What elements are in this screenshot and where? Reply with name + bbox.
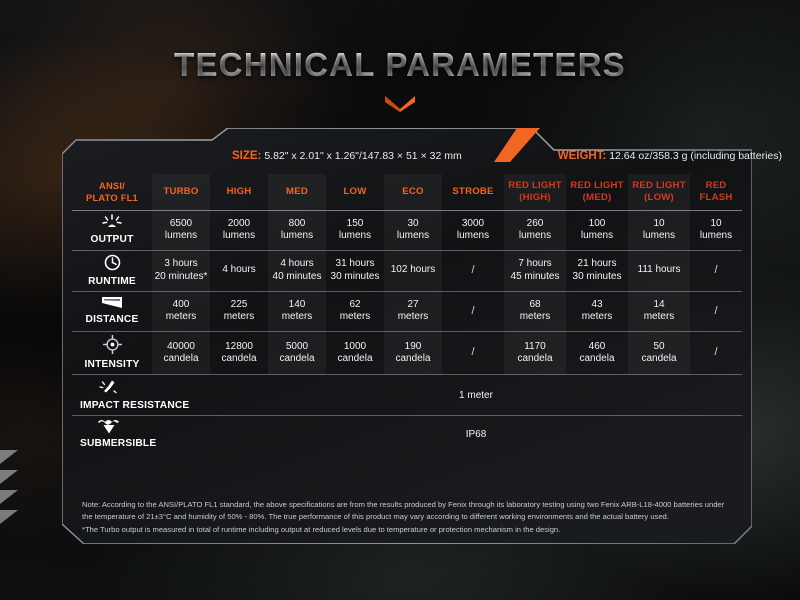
column-header-line: (HIGH) bbox=[504, 192, 566, 204]
impact-drop-icon bbox=[98, 378, 208, 398]
cell-line: 190 bbox=[385, 341, 441, 354]
table-cell: 800lumens bbox=[268, 210, 326, 250]
table-cell: 225meters bbox=[210, 291, 268, 331]
cell-line: lumens bbox=[443, 230, 503, 243]
column-header-line: LOW bbox=[326, 186, 384, 198]
weight-spec: WEIGHT: 12.64 oz/358.3 g (including batt… bbox=[558, 150, 782, 162]
cell-line: 225 bbox=[211, 299, 267, 312]
column-header-line: FLASH bbox=[690, 192, 742, 204]
cell-line: 40 minutes bbox=[269, 271, 325, 284]
cell-line: meters bbox=[211, 311, 267, 324]
footnote-line-2: *The Turbo output is measured in total o… bbox=[82, 524, 734, 536]
cell-line: lumens bbox=[269, 230, 325, 243]
cell-line: meters bbox=[629, 311, 689, 324]
table-cell: 260lumens bbox=[504, 210, 566, 250]
beam-cone-icon bbox=[74, 296, 150, 312]
cell-line: 45 minutes bbox=[505, 271, 565, 284]
row-label-cell: DISTANCE bbox=[72, 291, 152, 331]
chevron-down-icon bbox=[383, 94, 417, 112]
table-cell: 150lumens bbox=[326, 210, 384, 250]
cell-line: 4 hours bbox=[211, 264, 267, 277]
column-header: ANSI/PLATO FL1 bbox=[72, 174, 152, 210]
cell-line: 6500 bbox=[153, 218, 209, 231]
cell-line: 40000 bbox=[153, 341, 209, 354]
cell-line: 400 bbox=[153, 299, 209, 312]
table-cell: 2000lumens bbox=[210, 210, 268, 250]
table-cell: 460candela bbox=[566, 331, 628, 374]
clock-icon bbox=[74, 254, 150, 274]
cell-line: candela bbox=[629, 353, 689, 366]
weight-value: 12.64 oz/358.3 g (including batteries) bbox=[609, 150, 782, 162]
cell-line: 800 bbox=[269, 218, 325, 231]
column-header-line: (MED) bbox=[566, 192, 628, 204]
cell-line: 62 bbox=[327, 299, 383, 312]
not-applicable: / bbox=[471, 264, 474, 276]
table-cell: 12800candela bbox=[210, 331, 268, 374]
cell-line: 100 bbox=[567, 218, 627, 231]
cell-line: 30 minutes bbox=[567, 271, 627, 284]
cell-line: 5000 bbox=[269, 341, 325, 354]
not-applicable: / bbox=[714, 264, 717, 276]
table-cell: 400meters bbox=[152, 291, 210, 331]
table-cell: 102 hours bbox=[384, 250, 442, 291]
cell-line: candela bbox=[269, 353, 325, 366]
cell-line: 31 hours bbox=[327, 258, 383, 271]
not-applicable: / bbox=[714, 346, 717, 358]
column-header: RED LIGHT(MED) bbox=[566, 174, 628, 210]
cell-line: 21 hours bbox=[567, 258, 627, 271]
cell-line: 2000 bbox=[211, 218, 267, 231]
not-applicable: / bbox=[714, 305, 717, 317]
row-label-text: INTENSITY bbox=[84, 359, 139, 370]
cell-line: lumens bbox=[629, 230, 689, 243]
cell-line: meters bbox=[385, 311, 441, 324]
table-cell: / bbox=[442, 331, 504, 374]
water-waves-icon bbox=[98, 419, 208, 437]
cell-line: 43 bbox=[567, 299, 627, 312]
column-header: LOW bbox=[326, 174, 384, 210]
spec-panel: SIZE: 5.82" x 2.01" x 1.26"/147.83 × 51 … bbox=[62, 128, 752, 544]
size-weight-line: SIZE: 5.82" x 2.01" x 1.26"/147.83 × 51 … bbox=[232, 146, 736, 166]
table-cell: 14meters bbox=[628, 291, 690, 331]
table-cell: 140meters bbox=[268, 291, 326, 331]
cell-line: 102 hours bbox=[385, 264, 441, 277]
cell-line: lumens bbox=[153, 230, 209, 243]
column-header-line: (LOW) bbox=[628, 192, 690, 204]
cell-line: 4 hours bbox=[269, 258, 325, 271]
cell-line: meters bbox=[505, 311, 565, 324]
table-cell: 4 hours40 minutes bbox=[268, 250, 326, 291]
cell-line: candela bbox=[211, 353, 267, 366]
row-label-cell: SUBMERSIBLE bbox=[72, 415, 210, 453]
cell-line: 150 bbox=[327, 218, 383, 231]
cell-line: 3 hours bbox=[153, 258, 209, 271]
cell-line: lumens bbox=[211, 230, 267, 243]
column-header: RED LIGHT(LOW) bbox=[628, 174, 690, 210]
row-label-text: SUBMERSIBLE bbox=[80, 438, 156, 449]
row-label-text: IMPACT RESISTANCE bbox=[80, 400, 189, 411]
cell-line: 20 minutes* bbox=[153, 271, 209, 284]
row-label-cell: INTENSITY bbox=[72, 331, 152, 374]
column-header-line: RED LIGHT bbox=[566, 180, 628, 192]
footnote-line-1: Note: According to the ANSI/PLATO FL1 st… bbox=[82, 499, 734, 524]
size-value: 5.82" x 2.01" x 1.26"/147.83 × 51 × 32 m… bbox=[264, 150, 461, 162]
table-cell: / bbox=[690, 250, 742, 291]
table-cell: 27meters bbox=[384, 291, 442, 331]
column-header: STROBE bbox=[442, 174, 504, 210]
not-applicable: / bbox=[471, 305, 474, 317]
merged-value-cell: IP68 bbox=[210, 415, 742, 453]
cell-line: 10 bbox=[691, 218, 741, 231]
cell-line: 140 bbox=[269, 299, 325, 312]
merged-value-cell: 1 meter bbox=[210, 375, 742, 415]
row-label-cell: RUNTIME bbox=[72, 250, 152, 291]
cell-line: lumens bbox=[327, 230, 383, 243]
table-header-row: ANSI/PLATO FL1TURBOHIGHMEDLOWECOSTROBERE… bbox=[72, 174, 742, 210]
cell-line: candela bbox=[567, 353, 627, 366]
table-row: DISTANCE400meters225meters140meters62met… bbox=[72, 291, 742, 331]
title-block: TECHNICAL PARAMETERS bbox=[0, 46, 800, 112]
table-body: OUTPUT6500lumens2000lumens800lumens150lu… bbox=[72, 210, 742, 453]
cell-line: 260 bbox=[505, 218, 565, 231]
cell-line: 10 bbox=[629, 218, 689, 231]
column-header: RED LIGHT(HIGH) bbox=[504, 174, 566, 210]
row-label-cell: OUTPUT bbox=[72, 210, 152, 250]
not-applicable: / bbox=[471, 346, 474, 358]
column-header-line: ECO bbox=[384, 186, 442, 198]
table-row-merged: SUBMERSIBLEIP68 bbox=[72, 415, 742, 453]
cell-line: candela bbox=[385, 353, 441, 366]
size-label: SIZE: bbox=[232, 150, 261, 162]
cell-line: 50 bbox=[629, 341, 689, 354]
column-header-line: PLATO FL1 bbox=[72, 192, 152, 203]
table-cell: 111 hours bbox=[628, 250, 690, 291]
column-header-line: HIGH bbox=[210, 186, 268, 198]
column-header-line: STROBE bbox=[442, 186, 504, 198]
cell-line: candela bbox=[153, 353, 209, 366]
table-row: OUTPUT6500lumens2000lumens800lumens150lu… bbox=[72, 210, 742, 250]
column-header-line: MED bbox=[268, 186, 326, 198]
table-cell: / bbox=[442, 250, 504, 291]
table-cell: 21 hours30 minutes bbox=[566, 250, 628, 291]
column-header: ECO bbox=[384, 174, 442, 210]
table-cell: 10lumens bbox=[690, 210, 742, 250]
column-header-line: TURBO bbox=[152, 186, 210, 198]
cell-line: lumens bbox=[505, 230, 565, 243]
cell-line: meters bbox=[327, 311, 383, 324]
specifications-table: ANSI/PLATO FL1TURBOHIGHMEDLOWECOSTROBERE… bbox=[72, 174, 742, 453]
cell-line: meters bbox=[567, 311, 627, 324]
table-cell: 100lumens bbox=[566, 210, 628, 250]
table-cell: 43meters bbox=[566, 291, 628, 331]
column-header-line: ANSI/ bbox=[72, 180, 152, 191]
crosshair-icon bbox=[74, 335, 150, 357]
table-row-merged: IMPACT RESISTANCE1 meter bbox=[72, 375, 742, 415]
cell-line: candela bbox=[505, 353, 565, 366]
cell-line: 30 minutes bbox=[327, 271, 383, 284]
cell-line: 111 hours bbox=[629, 264, 689, 277]
page-title: TECHNICAL PARAMETERS bbox=[0, 46, 800, 84]
cell-line: candela bbox=[327, 353, 383, 366]
row-label-text: OUTPUT bbox=[90, 234, 133, 245]
table-cell: 7 hours45 minutes bbox=[504, 250, 566, 291]
decorative-stripes bbox=[0, 444, 54, 564]
cell-line: 1000 bbox=[327, 341, 383, 354]
table-cell: 10lumens bbox=[628, 210, 690, 250]
table-cell: 4 hours bbox=[210, 250, 268, 291]
table-cell: 190candela bbox=[384, 331, 442, 374]
table-cell: 30lumens bbox=[384, 210, 442, 250]
row-label-cell: IMPACT RESISTANCE bbox=[72, 375, 210, 415]
column-header-line: RED LIGHT bbox=[504, 180, 566, 192]
weight-label: WEIGHT: bbox=[558, 150, 607, 162]
size-spec: SIZE: 5.82" x 2.01" x 1.26"/147.83 × 51 … bbox=[232, 150, 462, 162]
table-cell: / bbox=[442, 291, 504, 331]
table-cell: 68meters bbox=[504, 291, 566, 331]
column-header: HIGH bbox=[210, 174, 268, 210]
cell-line: 14 bbox=[629, 299, 689, 312]
table-cell: 31 hours30 minutes bbox=[326, 250, 384, 291]
table-cell: 40000candela bbox=[152, 331, 210, 374]
footnote: Note: According to the ANSI/PLATO FL1 st… bbox=[82, 499, 734, 536]
table-cell: / bbox=[690, 331, 742, 374]
table-cell: 62meters bbox=[326, 291, 384, 331]
light-burst-icon bbox=[74, 214, 150, 232]
table-row: RUNTIME3 hours20 minutes*4 hours4 hours4… bbox=[72, 250, 742, 291]
cell-line: 460 bbox=[567, 341, 627, 354]
row-label-text: DISTANCE bbox=[86, 314, 139, 325]
cell-line: 27 bbox=[385, 299, 441, 312]
table-cell: 6500lumens bbox=[152, 210, 210, 250]
row-label-text: RUNTIME bbox=[88, 276, 136, 287]
table-cell: 50candela bbox=[628, 331, 690, 374]
cell-line: 68 bbox=[505, 299, 565, 312]
cell-line: lumens bbox=[567, 230, 627, 243]
column-header-line: RED LIGHT bbox=[628, 180, 690, 192]
table-cell: 1000candela bbox=[326, 331, 384, 374]
column-header: MED bbox=[268, 174, 326, 210]
cell-line: meters bbox=[153, 311, 209, 324]
table-row: INTENSITY40000candela12800candela5000can… bbox=[72, 331, 742, 374]
cell-line: 7 hours bbox=[505, 258, 565, 271]
cell-line: lumens bbox=[691, 230, 741, 243]
table-cell: 1170candela bbox=[504, 331, 566, 374]
cell-line: 3000 bbox=[443, 218, 503, 231]
cell-line: 30 bbox=[385, 218, 441, 231]
cell-line: meters bbox=[269, 311, 325, 324]
table-cell: 3 hours20 minutes* bbox=[152, 250, 210, 291]
column-header: TURBO bbox=[152, 174, 210, 210]
table-cell: 3000lumens bbox=[442, 210, 504, 250]
table-cell: 5000candela bbox=[268, 331, 326, 374]
column-header-line: RED bbox=[690, 180, 742, 192]
column-header: REDFLASH bbox=[690, 174, 742, 210]
table-cell: / bbox=[690, 291, 742, 331]
cell-line: lumens bbox=[385, 230, 441, 243]
cell-line: 12800 bbox=[211, 341, 267, 354]
table-container: ANSI/PLATO FL1TURBOHIGHMEDLOWECOSTROBERE… bbox=[72, 174, 742, 534]
cell-line: 1170 bbox=[505, 341, 565, 354]
